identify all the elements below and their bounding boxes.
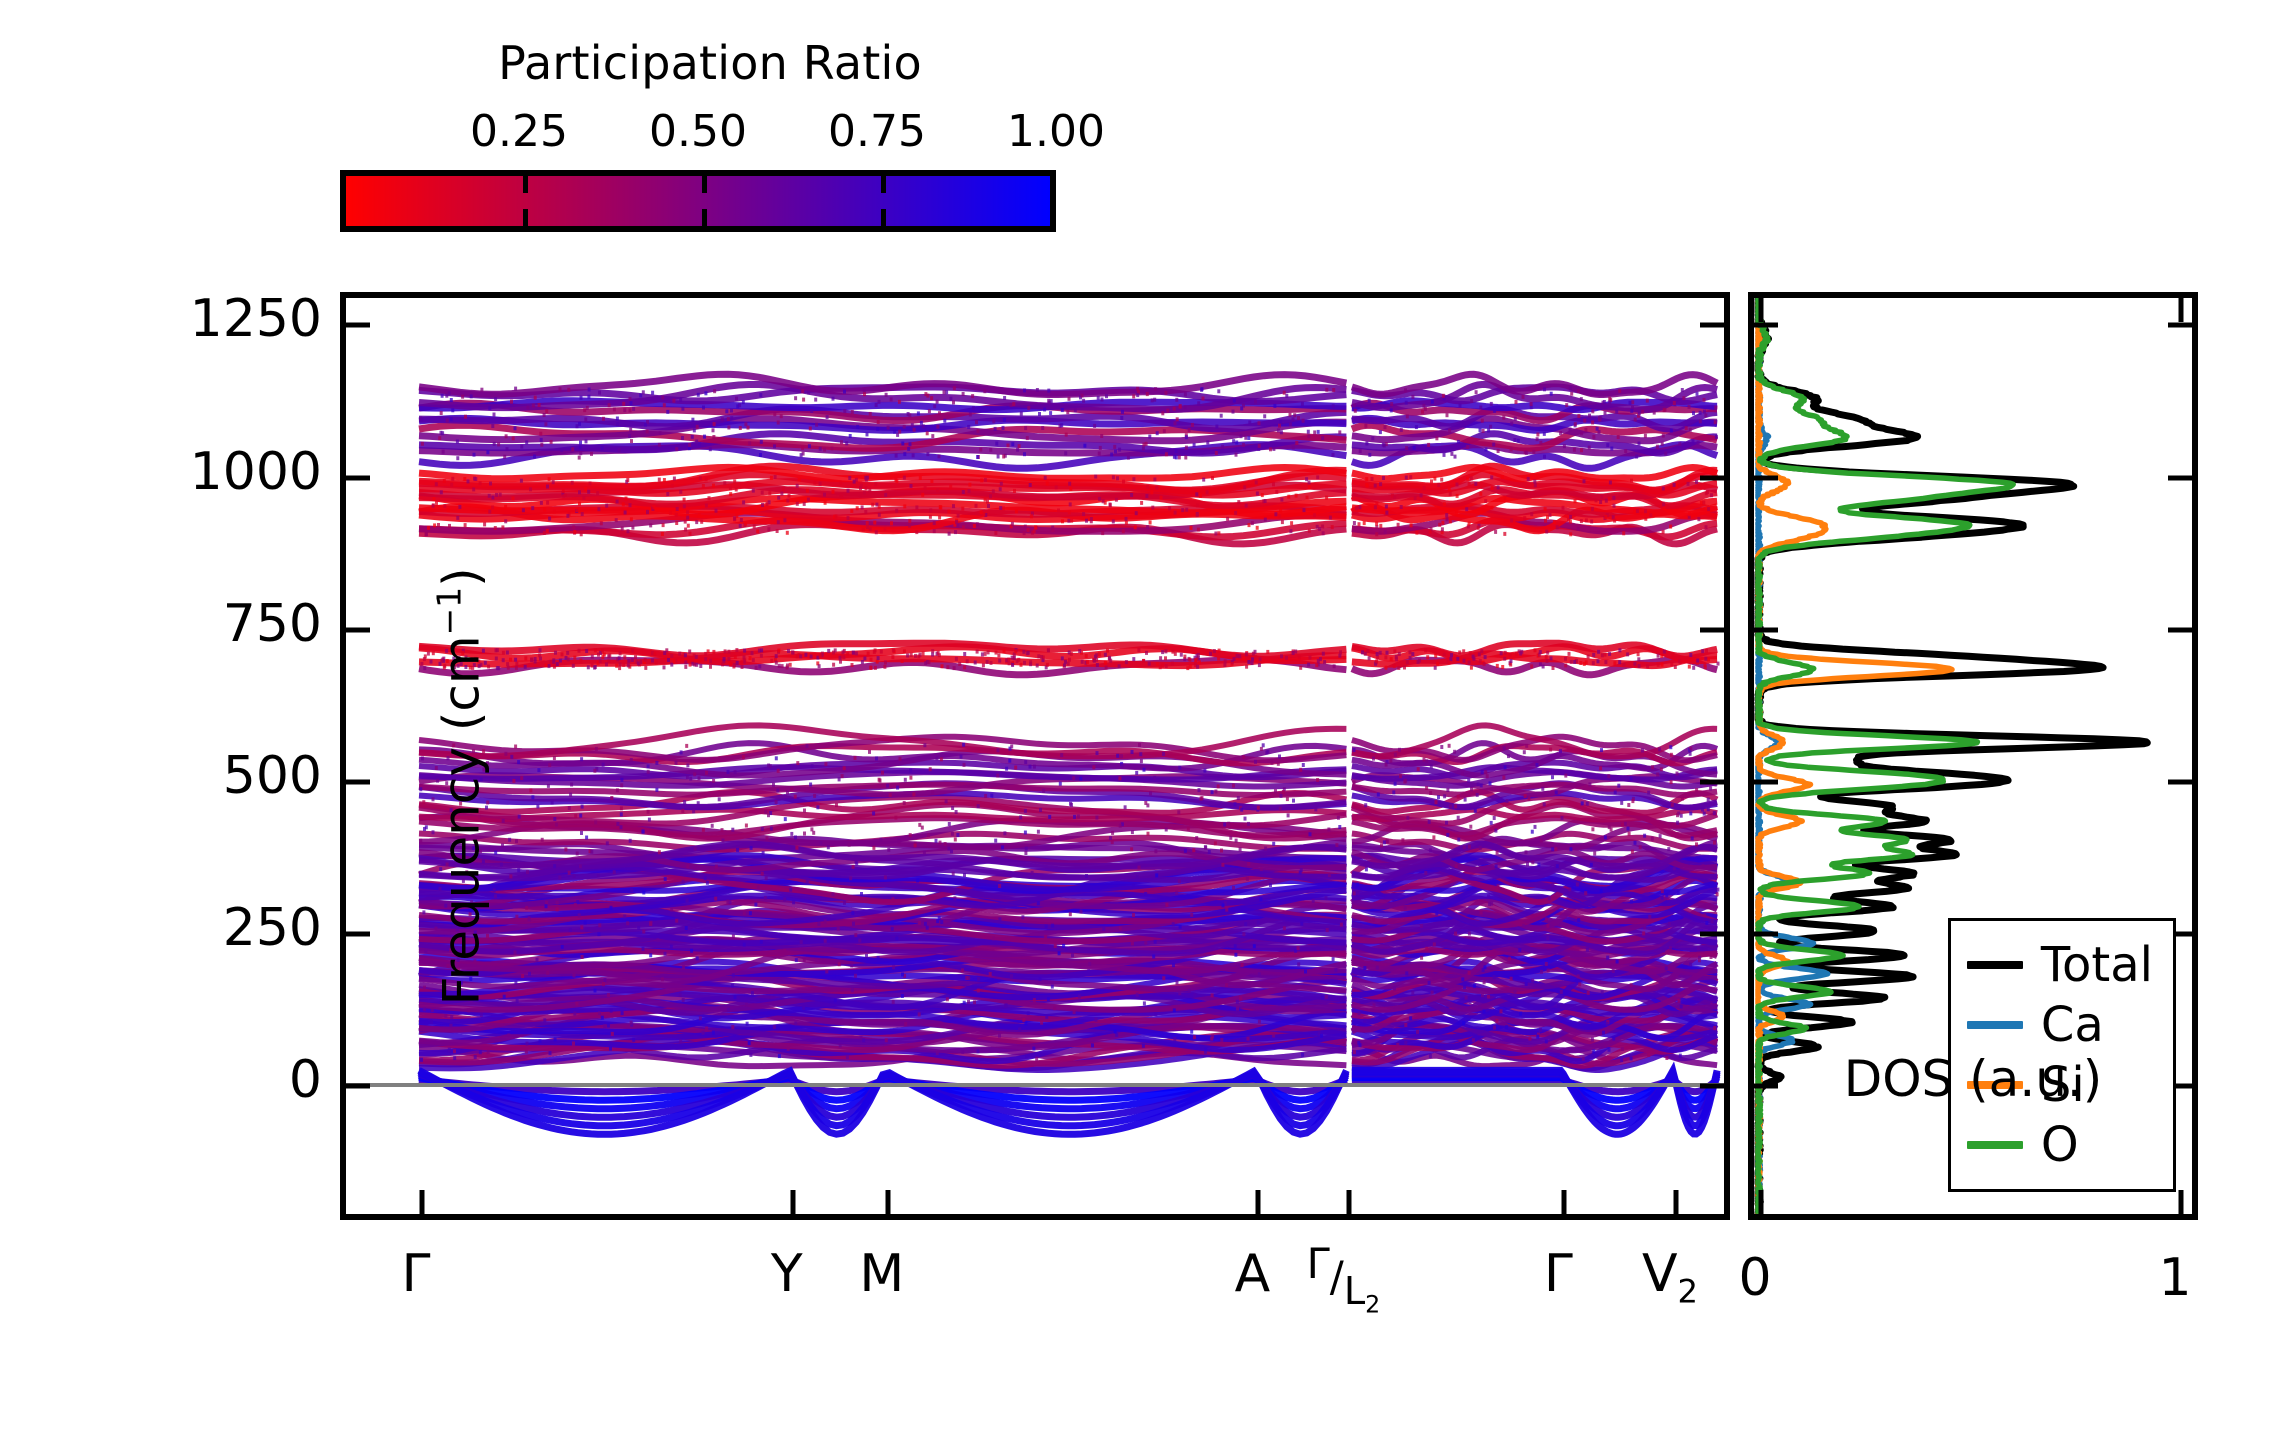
band-point bbox=[516, 999, 519, 1003]
band-point bbox=[1676, 772, 1679, 776]
band-point bbox=[1553, 520, 1556, 524]
band-point bbox=[1054, 944, 1057, 948]
band-point bbox=[420, 417, 423, 421]
band-point bbox=[1455, 511, 1458, 515]
band-point bbox=[952, 400, 955, 404]
band-point bbox=[541, 838, 544, 842]
band-point bbox=[1522, 924, 1525, 928]
band-point bbox=[514, 658, 517, 662]
band-point bbox=[1695, 480, 1698, 484]
band-point bbox=[611, 1032, 614, 1036]
band-point bbox=[534, 396, 537, 400]
band-point bbox=[590, 850, 593, 854]
x-tick-mark bbox=[790, 1190, 795, 1214]
band-point bbox=[1604, 835, 1607, 839]
band-point bbox=[853, 480, 856, 484]
band-point bbox=[704, 652, 707, 656]
band-point bbox=[675, 447, 678, 451]
band-point bbox=[1678, 442, 1681, 446]
band-point bbox=[1322, 652, 1325, 656]
band-point bbox=[1569, 515, 1572, 519]
band-point bbox=[945, 390, 948, 394]
band-point bbox=[1591, 507, 1594, 511]
band-point bbox=[1292, 446, 1295, 450]
band-point bbox=[1637, 657, 1640, 661]
band-point bbox=[1073, 815, 1076, 819]
band-point bbox=[705, 771, 708, 775]
band-point bbox=[1392, 790, 1395, 794]
band-point bbox=[1446, 788, 1449, 792]
band-point bbox=[1013, 656, 1016, 660]
band-point bbox=[783, 518, 786, 522]
band-point bbox=[506, 662, 509, 666]
band-point bbox=[1557, 1004, 1560, 1008]
band-point bbox=[903, 649, 906, 653]
band-point bbox=[751, 991, 754, 995]
band-point bbox=[601, 446, 604, 450]
band-point bbox=[859, 494, 862, 498]
band-point bbox=[1705, 649, 1708, 653]
band-point bbox=[644, 423, 647, 427]
band-point bbox=[1143, 768, 1146, 772]
dos-y-tick-mark bbox=[1754, 475, 1778, 480]
band-point bbox=[495, 657, 498, 661]
band-point bbox=[832, 490, 835, 494]
band-point bbox=[1331, 525, 1334, 529]
band-point bbox=[1443, 653, 1446, 657]
band-point bbox=[962, 490, 965, 494]
band-point bbox=[1415, 425, 1418, 429]
band-point bbox=[922, 652, 925, 656]
band-point bbox=[534, 660, 537, 664]
band-point bbox=[1714, 406, 1717, 410]
band-point bbox=[761, 872, 764, 876]
band-point bbox=[778, 664, 781, 668]
band-point bbox=[1316, 475, 1319, 479]
band-point bbox=[819, 482, 822, 486]
band-point bbox=[621, 527, 624, 531]
dos-x-tick-label: 1 bbox=[2158, 1248, 2191, 1308]
band-point bbox=[1101, 398, 1104, 402]
band-point bbox=[873, 521, 876, 525]
band-point bbox=[1022, 650, 1025, 654]
band-point bbox=[1681, 388, 1684, 392]
band-point bbox=[627, 529, 630, 533]
band-point bbox=[924, 486, 927, 490]
band-point bbox=[1132, 657, 1135, 661]
band-point bbox=[1628, 832, 1631, 836]
band-point bbox=[1234, 944, 1237, 948]
band-point bbox=[924, 661, 927, 665]
band-point bbox=[1446, 413, 1449, 417]
band-point bbox=[796, 484, 799, 488]
band-point bbox=[1302, 419, 1305, 423]
band-point bbox=[1461, 772, 1464, 776]
band-point bbox=[1612, 969, 1615, 973]
band-point bbox=[594, 665, 597, 669]
band-point bbox=[1663, 650, 1666, 654]
band-point bbox=[576, 852, 579, 856]
band-point bbox=[1513, 990, 1516, 994]
band-point bbox=[899, 757, 902, 761]
band-point bbox=[1354, 409, 1357, 413]
band-point bbox=[1363, 966, 1366, 970]
band-point bbox=[1081, 660, 1084, 664]
band-point bbox=[923, 851, 926, 855]
band-point bbox=[578, 913, 581, 917]
band-point bbox=[1574, 422, 1577, 426]
band-point bbox=[509, 874, 512, 878]
band-point bbox=[800, 453, 803, 457]
band-point bbox=[912, 453, 915, 457]
colorbar-tick-mark bbox=[702, 209, 707, 226]
band-point bbox=[1024, 525, 1027, 529]
band-point bbox=[786, 664, 789, 668]
band-point bbox=[1132, 884, 1135, 888]
band-point bbox=[976, 650, 979, 654]
band-point bbox=[963, 652, 966, 656]
band-point bbox=[1061, 408, 1064, 412]
band-point bbox=[1213, 649, 1216, 653]
band-point bbox=[806, 880, 809, 884]
band-point bbox=[1621, 1047, 1624, 1051]
band-point bbox=[502, 819, 505, 823]
band-point bbox=[917, 411, 920, 415]
band-point bbox=[656, 938, 659, 942]
band-point bbox=[979, 448, 982, 452]
band-point bbox=[777, 421, 780, 425]
band-point bbox=[1162, 976, 1165, 980]
band-point bbox=[1223, 663, 1226, 667]
band-point bbox=[796, 502, 799, 506]
band-point bbox=[646, 429, 649, 433]
band-point bbox=[816, 805, 819, 809]
band-point bbox=[761, 503, 764, 507]
band-point bbox=[1670, 780, 1673, 784]
band-point bbox=[908, 524, 911, 528]
band-point bbox=[1034, 525, 1037, 529]
band-point bbox=[673, 477, 676, 481]
band-point bbox=[1492, 443, 1495, 447]
band-point bbox=[1298, 655, 1301, 659]
band-point bbox=[1680, 1005, 1683, 1009]
band-point bbox=[1188, 658, 1191, 662]
band-point bbox=[422, 800, 425, 804]
band-point bbox=[517, 760, 520, 764]
band-point bbox=[1547, 969, 1550, 973]
band-point bbox=[1364, 803, 1367, 807]
band-point bbox=[1185, 508, 1188, 512]
band-point bbox=[686, 775, 689, 779]
band-point bbox=[1474, 809, 1477, 813]
band-point bbox=[1015, 509, 1018, 513]
band-point bbox=[1663, 506, 1666, 510]
band-point bbox=[1274, 789, 1277, 793]
band-point bbox=[1240, 407, 1243, 411]
band-point bbox=[1204, 1047, 1207, 1051]
band-point bbox=[1373, 1003, 1376, 1007]
band-point bbox=[1679, 1054, 1682, 1058]
band-point bbox=[1692, 411, 1695, 415]
band-point bbox=[1293, 413, 1296, 417]
band-point bbox=[1376, 966, 1379, 970]
band-point bbox=[712, 435, 715, 439]
band-point bbox=[969, 413, 972, 417]
band-point bbox=[626, 478, 629, 482]
band-point bbox=[766, 836, 769, 840]
band-point bbox=[1280, 430, 1283, 434]
band-point bbox=[884, 876, 887, 880]
band-point bbox=[1543, 455, 1546, 459]
band-point bbox=[1660, 654, 1663, 658]
band-point bbox=[1277, 762, 1280, 766]
band-point bbox=[1680, 814, 1683, 818]
band-point bbox=[994, 427, 997, 431]
band-point bbox=[851, 663, 854, 667]
band-point bbox=[1033, 998, 1036, 1002]
band-point bbox=[1685, 426, 1688, 430]
band-point bbox=[774, 475, 777, 479]
band-point bbox=[698, 513, 701, 517]
band-point bbox=[1540, 839, 1543, 843]
band-point bbox=[664, 877, 667, 881]
band-point bbox=[1061, 656, 1064, 660]
band-point bbox=[624, 511, 627, 515]
band-point bbox=[1703, 812, 1706, 816]
band-point bbox=[1251, 521, 1254, 525]
band-point bbox=[529, 487, 532, 491]
band-point bbox=[539, 1039, 542, 1043]
band-point bbox=[1448, 744, 1451, 748]
band-point bbox=[1044, 935, 1047, 939]
band-point bbox=[1184, 456, 1187, 460]
band-point bbox=[1545, 962, 1548, 966]
band-point bbox=[627, 663, 630, 667]
band-point bbox=[1613, 661, 1616, 665]
band-point bbox=[787, 1047, 790, 1051]
band-point bbox=[642, 947, 645, 951]
band-point bbox=[941, 664, 944, 668]
band-point bbox=[1178, 991, 1181, 995]
band-point bbox=[692, 810, 695, 814]
band-point bbox=[1178, 455, 1181, 459]
band-point bbox=[749, 911, 752, 915]
band-point bbox=[507, 1033, 510, 1037]
band-point bbox=[843, 901, 846, 905]
band-point bbox=[1613, 504, 1616, 508]
band-point bbox=[695, 520, 698, 524]
band-point bbox=[803, 832, 806, 836]
band-point bbox=[1490, 506, 1493, 510]
legend-color-swatch bbox=[1967, 1141, 2023, 1149]
band-point bbox=[938, 516, 941, 520]
band-point bbox=[1497, 884, 1500, 888]
band-point bbox=[1245, 665, 1248, 669]
band-point bbox=[1300, 922, 1303, 926]
band-point bbox=[1024, 809, 1027, 813]
band-point bbox=[553, 510, 556, 514]
band-point bbox=[727, 1008, 730, 1012]
band-point bbox=[1074, 408, 1077, 412]
band-point bbox=[661, 396, 664, 400]
band-point bbox=[1010, 974, 1013, 978]
y-tick-mark bbox=[346, 779, 370, 784]
band-point bbox=[696, 425, 699, 429]
band-point bbox=[1122, 480, 1125, 484]
band-point bbox=[975, 420, 978, 424]
band-point bbox=[1563, 444, 1566, 448]
band-point bbox=[1466, 445, 1469, 449]
band-point bbox=[1368, 656, 1371, 660]
band-point bbox=[520, 776, 523, 780]
band-point bbox=[1161, 411, 1164, 415]
band-point bbox=[877, 956, 880, 960]
band-point bbox=[1003, 831, 1006, 835]
band-point bbox=[1114, 450, 1117, 454]
band-point bbox=[880, 650, 883, 654]
band-point bbox=[1469, 1000, 1472, 1004]
band-point bbox=[742, 755, 745, 759]
band-point bbox=[1570, 660, 1573, 664]
band-point bbox=[618, 448, 621, 452]
band-point bbox=[1696, 392, 1699, 396]
band-point bbox=[579, 451, 582, 455]
band-point bbox=[1689, 752, 1692, 756]
band-point bbox=[1316, 778, 1319, 782]
band-point bbox=[1702, 864, 1705, 868]
band-point bbox=[955, 520, 958, 524]
band-point bbox=[1016, 448, 1019, 452]
band-point bbox=[1450, 653, 1453, 657]
band-point bbox=[977, 804, 980, 808]
band-point bbox=[1380, 843, 1383, 847]
band-point bbox=[1437, 483, 1440, 487]
band-point bbox=[594, 989, 597, 993]
band-point bbox=[1018, 444, 1021, 448]
band-point bbox=[1670, 753, 1673, 757]
band-point bbox=[1063, 664, 1066, 668]
band-point bbox=[686, 510, 689, 514]
band-point bbox=[581, 955, 584, 959]
band-point bbox=[1003, 649, 1006, 653]
band-point bbox=[1420, 924, 1423, 928]
band-point bbox=[1197, 401, 1200, 405]
band-point bbox=[977, 429, 980, 433]
band-point bbox=[1144, 892, 1147, 896]
band-point bbox=[714, 897, 717, 901]
band-point bbox=[891, 655, 894, 659]
band-point bbox=[1254, 760, 1257, 764]
band-point bbox=[915, 505, 918, 509]
band-point bbox=[572, 525, 575, 529]
band-point bbox=[901, 442, 904, 446]
band-point bbox=[533, 455, 536, 459]
band-point bbox=[1536, 437, 1539, 441]
band-point bbox=[729, 492, 732, 496]
band-point bbox=[631, 526, 634, 530]
band-point bbox=[951, 806, 954, 810]
band-point bbox=[564, 848, 567, 852]
band-point bbox=[1478, 652, 1481, 656]
band-point bbox=[1261, 493, 1264, 497]
band-point bbox=[922, 424, 925, 428]
band-point bbox=[1257, 920, 1260, 924]
band-point bbox=[795, 958, 798, 962]
band-point bbox=[1466, 477, 1469, 481]
band-point bbox=[908, 413, 911, 417]
band-point bbox=[629, 397, 632, 401]
band-point bbox=[1155, 486, 1158, 490]
band-point bbox=[711, 824, 714, 828]
band-point bbox=[1111, 831, 1114, 835]
band-point bbox=[473, 453, 476, 457]
band-point bbox=[1175, 398, 1178, 402]
band-point bbox=[1119, 754, 1122, 758]
band-point bbox=[1018, 1027, 1021, 1031]
band-point bbox=[1705, 525, 1708, 529]
band-point bbox=[1483, 662, 1486, 666]
band-point bbox=[722, 839, 725, 843]
band-point bbox=[494, 526, 497, 530]
band-point bbox=[799, 654, 802, 658]
band-point bbox=[1266, 650, 1269, 654]
band-point bbox=[1211, 790, 1214, 794]
band-point bbox=[1153, 478, 1156, 482]
band-point bbox=[1253, 944, 1256, 948]
band-point bbox=[1493, 975, 1496, 979]
band-point bbox=[995, 651, 998, 655]
band-point bbox=[908, 519, 911, 523]
band-point bbox=[1061, 519, 1064, 523]
band-point bbox=[1429, 1054, 1432, 1058]
band-point bbox=[1241, 963, 1244, 967]
band-point bbox=[962, 525, 965, 529]
band-point bbox=[441, 394, 444, 398]
band-point bbox=[500, 863, 503, 867]
band-point bbox=[1014, 649, 1017, 653]
band-point bbox=[1479, 492, 1482, 496]
band-point bbox=[947, 509, 950, 513]
band-point bbox=[1277, 428, 1280, 432]
band-point bbox=[1404, 779, 1407, 783]
band-point bbox=[866, 521, 869, 525]
band-point bbox=[956, 524, 959, 528]
band-point bbox=[741, 665, 744, 669]
band-point bbox=[1135, 771, 1138, 775]
band-point bbox=[872, 811, 875, 815]
band-point bbox=[598, 1011, 601, 1015]
band-point bbox=[1463, 659, 1466, 663]
band-point bbox=[553, 864, 556, 868]
band-point bbox=[1500, 1009, 1503, 1013]
dos-x-tick-mark bbox=[1759, 1190, 1764, 1214]
band-point bbox=[530, 657, 533, 661]
band-point bbox=[794, 795, 797, 799]
band-point bbox=[691, 435, 694, 439]
band-point bbox=[1371, 436, 1374, 440]
band-point bbox=[893, 430, 896, 434]
band-point bbox=[989, 448, 992, 452]
band-point bbox=[1283, 926, 1286, 930]
band-point bbox=[743, 911, 746, 915]
band-point bbox=[1047, 997, 1050, 1001]
band-point bbox=[880, 838, 883, 842]
band-point bbox=[1208, 850, 1211, 854]
zero-frequency-line bbox=[346, 1083, 1724, 1087]
band-point bbox=[1134, 525, 1137, 529]
band-point bbox=[1397, 666, 1400, 670]
band-point bbox=[792, 900, 795, 904]
